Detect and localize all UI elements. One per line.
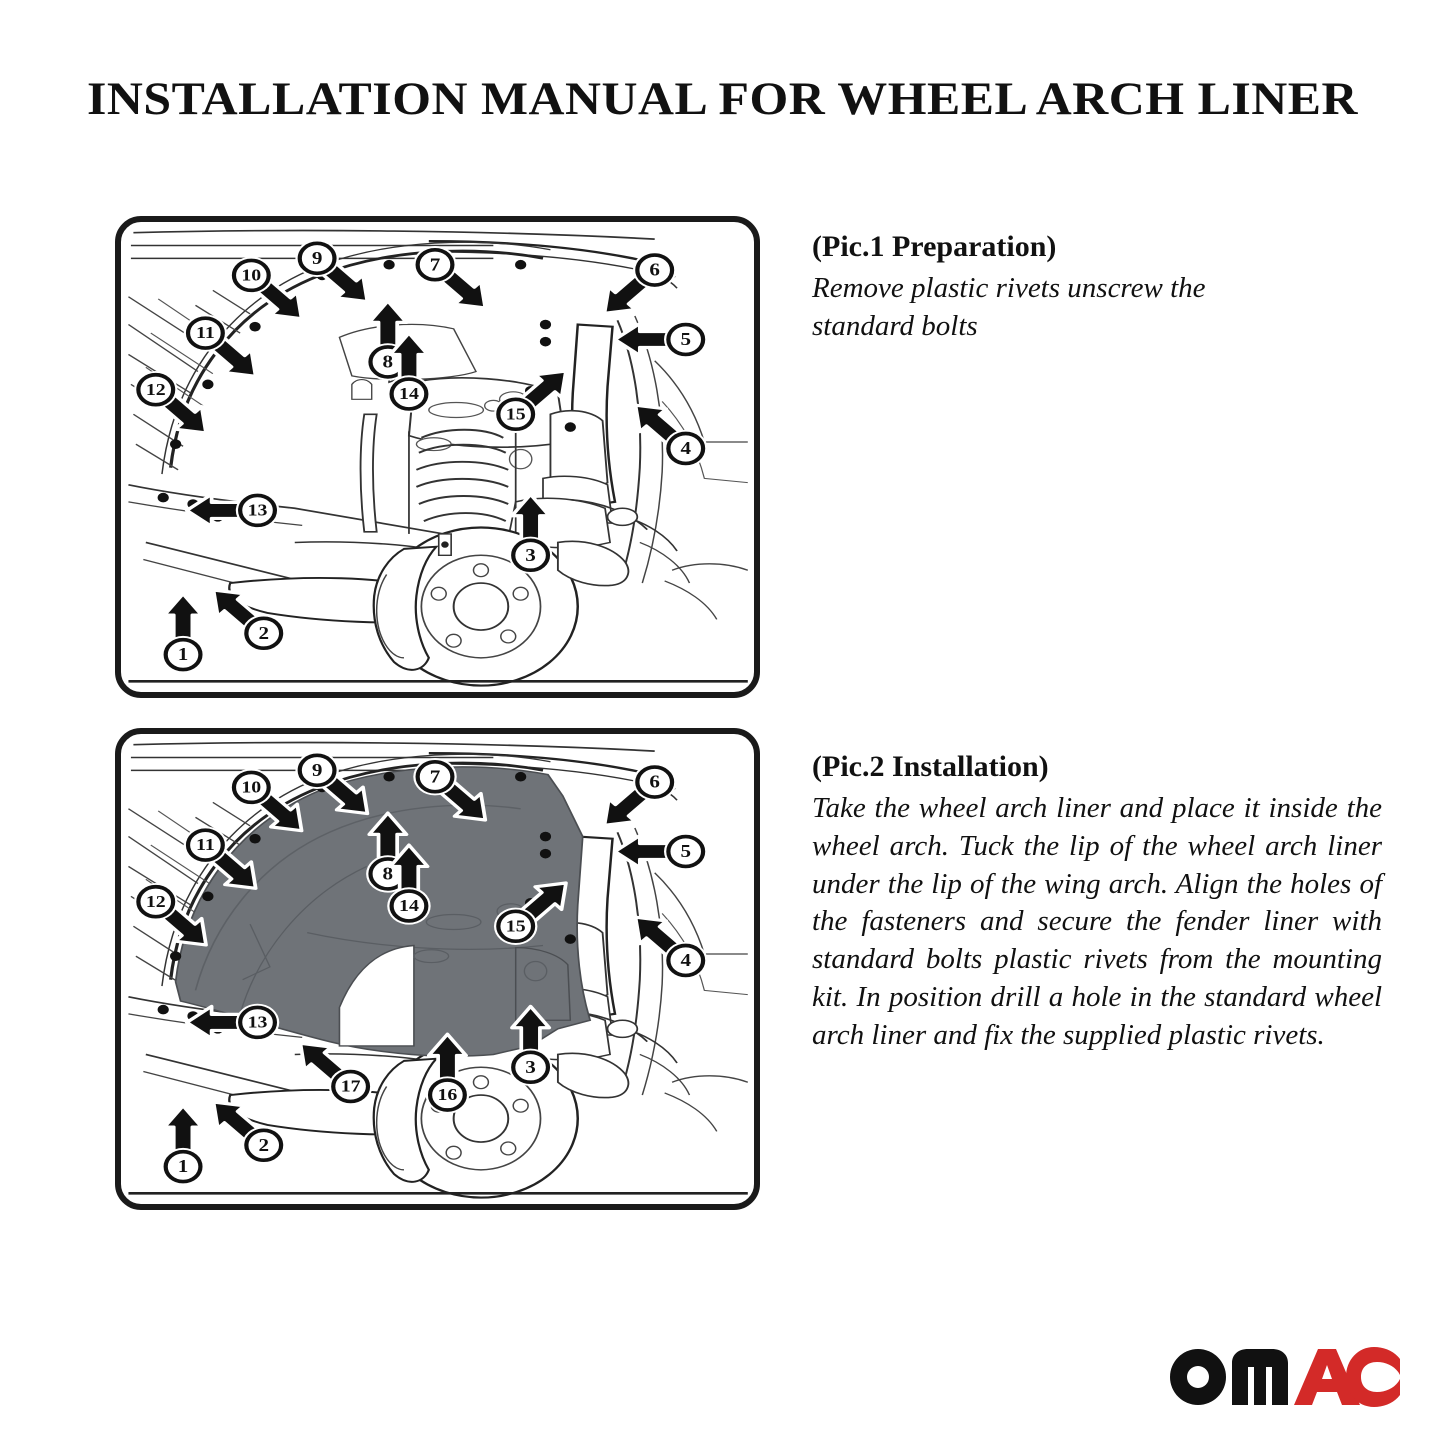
callout-badge-3: 3 — [509, 1049, 552, 1086]
callout-badge-14: 14 — [387, 375, 430, 412]
logo-letter-o — [1170, 1349, 1226, 1405]
callout-number: 1 — [178, 1156, 189, 1176]
callout-number: 4 — [680, 950, 691, 970]
pic1-body: Remove plastic rivets unscrew the standa… — [812, 270, 1262, 345]
callout-number: 12 — [146, 380, 166, 399]
callout-badge-1: 1 — [161, 636, 204, 673]
callout-number: 14 — [399, 384, 419, 403]
callout-1[interactable]: 1 — [161, 594, 204, 674]
callout-number: 15 — [506, 917, 526, 936]
callout-number: 9 — [312, 248, 323, 268]
callout-badge-14: 14 — [387, 887, 430, 924]
callout-number: 10 — [241, 778, 261, 797]
callout-7[interactable]: 7 — [413, 246, 498, 319]
pic1-artwork: 123456789101112131415 — [121, 222, 754, 692]
callout-number: 5 — [680, 841, 691, 861]
callout-badge-10: 10 — [230, 769, 273, 806]
manual-page: INSTALLATION MANUAL FOR WHEEL ARCH LINER — [0, 0, 1445, 1445]
callout-number: 2 — [258, 1135, 269, 1155]
pic2-artwork: 1234567891011121314151617 — [121, 734, 754, 1204]
callout-number: 11 — [196, 323, 215, 342]
callout-number: 10 — [241, 266, 261, 285]
callout-number: 9 — [312, 760, 323, 780]
pic1-heading: (Pic.1 Preparation) — [812, 228, 1262, 266]
callout-number: 7 — [430, 767, 441, 787]
pic2-installation-panel: 1234567891011121314151617 — [115, 728, 760, 1210]
callout-badge-2: 2 — [242, 615, 285, 652]
callout-badge-12: 12 — [134, 371, 177, 408]
callout-9[interactable]: 9 — [295, 240, 380, 313]
pic2-heading: (Pic.2 Installation) — [812, 748, 1382, 786]
callout-badge-9: 9 — [295, 752, 338, 789]
callout-number: 7 — [430, 255, 441, 275]
callout-number: 6 — [649, 772, 660, 792]
callout-badge-11: 11 — [184, 826, 227, 863]
page-title: INSTALLATION MANUAL FOR WHEEL ARCH LINER — [0, 72, 1445, 126]
callout-number: 13 — [248, 501, 268, 520]
callout-number: 15 — [506, 405, 526, 424]
callout-badge-6: 6 — [633, 763, 676, 800]
callout-badge-13: 13 — [236, 492, 279, 529]
callout-badge-4: 4 — [664, 942, 707, 979]
callout-number: 12 — [146, 892, 166, 911]
callout-badge-10: 10 — [230, 257, 273, 294]
callout-badge-3: 3 — [509, 537, 552, 574]
callout-number: 17 — [341, 1077, 361, 1096]
callout-badge-15: 15 — [494, 908, 537, 945]
callout-number: 3 — [525, 1057, 536, 1077]
callout-badge-5: 5 — [664, 321, 707, 358]
pic1-text-block: (Pic.1 Preparation) Remove plastic rivet… — [812, 228, 1262, 346]
callout-number: 2 — [258, 623, 269, 643]
callout-badge-6: 6 — [633, 251, 676, 288]
callout-badge-1: 1 — [161, 1148, 204, 1185]
callout-badge-17: 17 — [329, 1068, 372, 1105]
callout-badge-7: 7 — [413, 246, 456, 283]
callout-number: 1 — [178, 644, 189, 664]
logo-letter-m — [1232, 1349, 1288, 1405]
callout-badge-12: 12 — [134, 883, 177, 920]
callout-number: 6 — [649, 260, 660, 280]
callout-6[interactable]: 6 — [591, 251, 676, 324]
omac-logo — [1168, 1345, 1400, 1407]
logo-letter-c — [1346, 1347, 1400, 1407]
callout-1[interactable]: 1 — [161, 1106, 204, 1186]
pic2-text-block: (Pic.2 Installation) Take the wheel arch… — [812, 748, 1382, 1054]
chassis-linework — [128, 231, 747, 686]
callout-badge-4: 4 — [664, 430, 707, 467]
callout-badge-15: 15 — [494, 396, 537, 433]
callout-badge-9: 9 — [295, 240, 338, 277]
callout-badge-11: 11 — [184, 314, 227, 351]
callout-number: 16 — [438, 1085, 458, 1104]
callout-number: 11 — [196, 835, 215, 854]
pic1-preparation-panel: 123456789101112131415 — [115, 216, 760, 698]
callout-badge-16: 16 — [426, 1076, 469, 1113]
callout-number: 4 — [680, 438, 691, 458]
callout-number: 14 — [399, 896, 419, 915]
omac-logo-mark — [1168, 1345, 1400, 1407]
callout-number: 13 — [248, 1013, 268, 1032]
pic2-body: Take the wheel arch liner and place it i… — [812, 790, 1382, 1054]
callout-6[interactable]: 6 — [591, 763, 676, 836]
callout-badge-13: 13 — [236, 1004, 279, 1041]
callout-badge-2: 2 — [242, 1127, 285, 1164]
callout-badge-7: 7 — [413, 758, 456, 795]
callout-number: 5 — [680, 329, 691, 349]
callout-badge-5: 5 — [664, 833, 707, 870]
callout-number: 3 — [525, 545, 536, 565]
